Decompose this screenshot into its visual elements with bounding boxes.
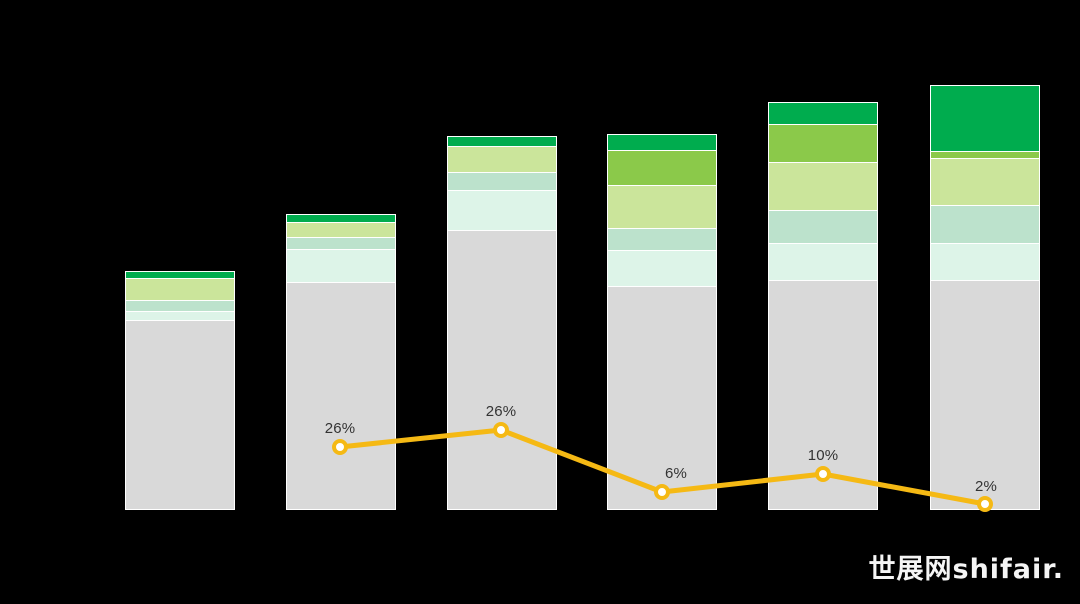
bar-segment-tier-2 [930, 205, 1040, 243]
bar-segment-tier-2 [447, 172, 557, 190]
bar-segment-base [930, 280, 1040, 510]
growth-rate-label-5: 10% [808, 447, 839, 464]
bar-segment-tier-2 [286, 237, 396, 249]
bar-segment-tier-1 [768, 243, 878, 280]
bar-segment-base [768, 280, 878, 510]
bar-segment-base [607, 286, 717, 510]
watermark-cn: 世展网 [869, 554, 953, 585]
bar-column-2[interactable] [286, 214, 396, 510]
bar-segment-tier-3 [286, 222, 396, 237]
watermark-en: shifair. [953, 554, 1065, 585]
bar-segment-base [286, 282, 396, 510]
bar-segment-tier-4 [930, 151, 1040, 158]
bar-segment-tier-2 [768, 210, 878, 243]
bar-segment-tier-5 [447, 136, 557, 146]
watermark: 世展网shifair. [869, 547, 1065, 586]
bar-stack-6 [930, 85, 1040, 510]
bar-segment-tier-1 [930, 243, 1040, 280]
growth-rate-label-4: 6% [665, 465, 687, 482]
bar-column-1[interactable] [125, 271, 235, 510]
bar-segment-tier-1 [125, 311, 235, 320]
bar-stack-4 [607, 134, 717, 510]
bar-column-3[interactable] [447, 136, 557, 510]
bar-segment-tier-3 [607, 185, 717, 228]
bar-segment-tier-5 [930, 85, 1040, 151]
bar-column-6[interactable] [930, 85, 1040, 510]
growth-rate-label-2: 26% [325, 420, 356, 437]
bar-segment-tier-5 [125, 271, 235, 278]
bar-segment-tier-2 [607, 228, 717, 250]
bar-segment-tier-5 [286, 214, 396, 222]
bar-segment-tier-1 [607, 250, 717, 286]
bar-stack-2 [286, 214, 396, 510]
bar-segment-tier-5 [768, 102, 878, 124]
bar-segment-tier-3 [768, 162, 878, 210]
bar-segment-tier-5 [607, 134, 717, 150]
bar-column-4[interactable] [607, 134, 717, 510]
bar-stack-1 [125, 271, 235, 510]
bar-segment-base [125, 320, 235, 510]
bar-stack-3 [447, 136, 557, 510]
bar-segment-base [447, 230, 557, 510]
bar-segment-tier-1 [447, 190, 557, 230]
bar-segment-tier-3 [125, 278, 235, 300]
bar-segment-tier-4 [607, 150, 717, 185]
growth-rate-label-6: 2% [975, 478, 997, 495]
plot-area: 26% 26% 6% 10% 2% [0, 0, 1080, 604]
chart-root: 26% 26% 6% 10% 2% 世展网shifair. [0, 0, 1080, 604]
growth-rate-label-3: 26% [486, 403, 517, 420]
bar-segment-tier-4 [768, 124, 878, 162]
bar-segment-tier-2 [125, 300, 235, 311]
bar-segment-tier-3 [447, 146, 557, 172]
bar-segment-tier-1 [286, 249, 396, 282]
bar-segment-tier-3 [930, 158, 1040, 205]
